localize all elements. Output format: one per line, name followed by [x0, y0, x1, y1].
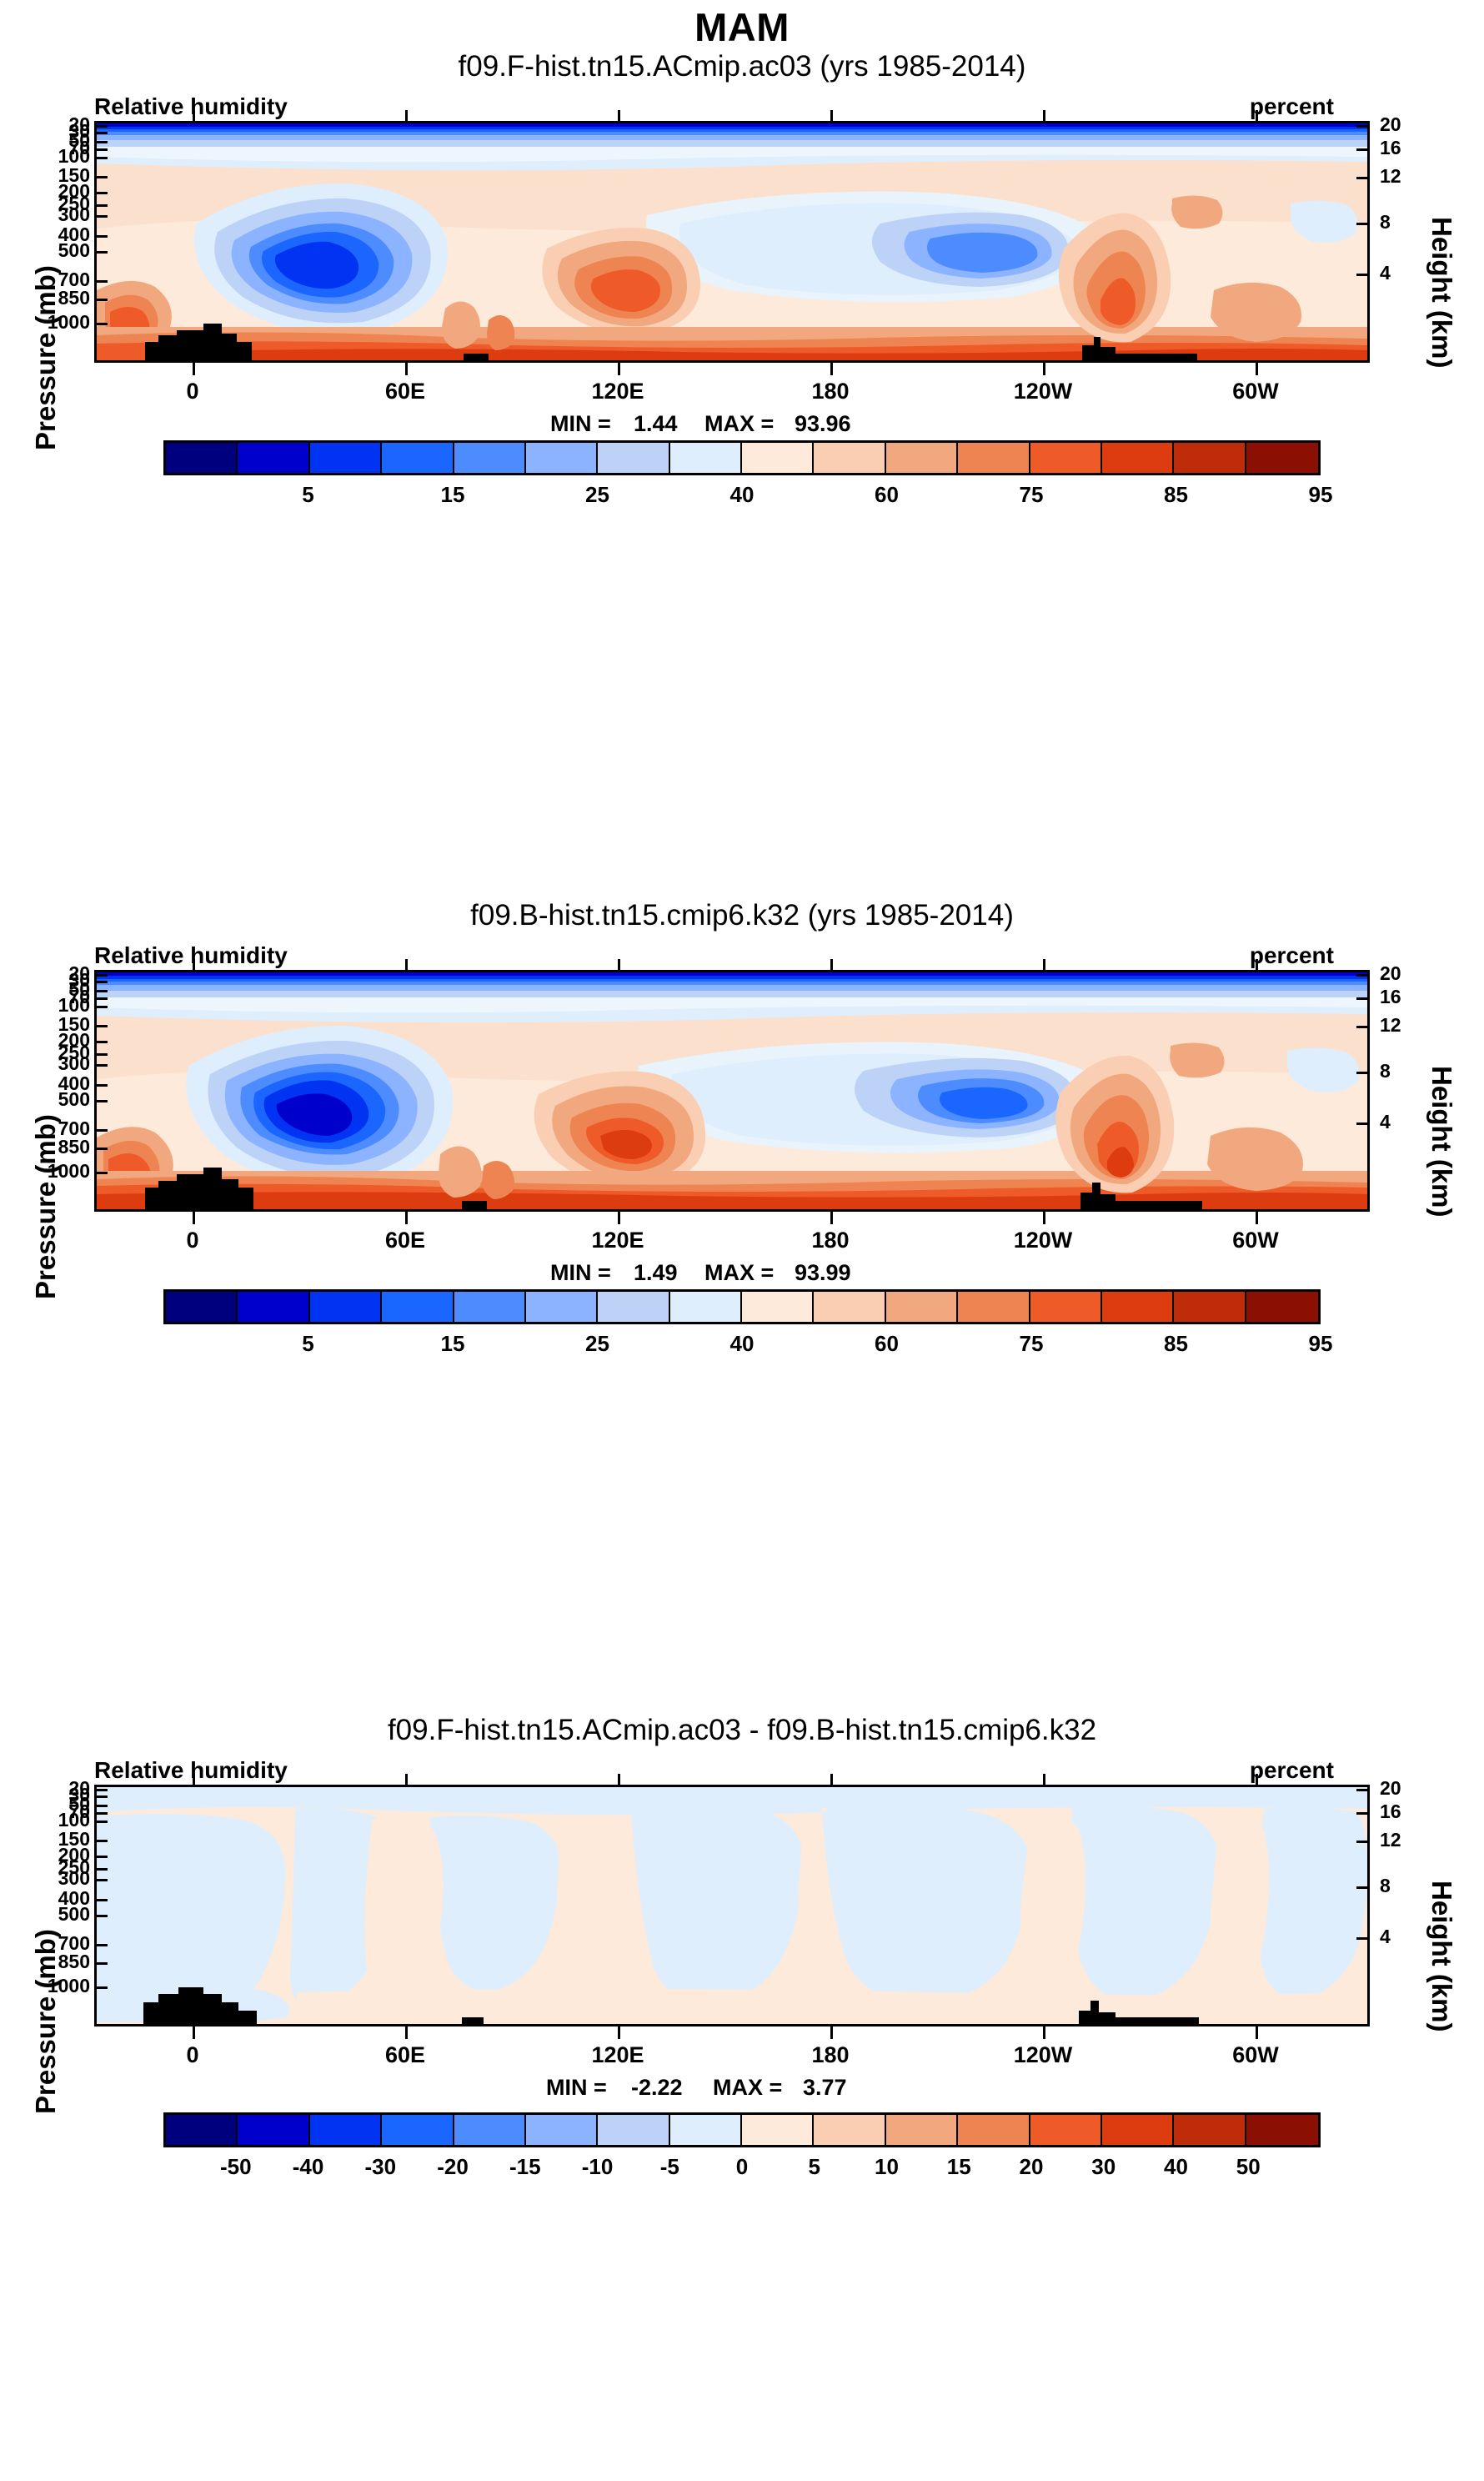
panel-1-xtick-60W: 60W: [1210, 379, 1301, 404]
panel-1-htick-4: 4: [1380, 262, 1391, 284]
colorbar-swatch: [382, 2115, 454, 2145]
colorbar-tick-label: 15: [921, 2154, 996, 2180]
panel-2-xtick-60W: 60W: [1210, 1228, 1301, 1253]
colorbar-tick-label: -5: [632, 2154, 707, 2180]
panel-3-xtick-60W: 60W: [1210, 2042, 1301, 2068]
panel-2-xtick-0: 0: [147, 1228, 238, 1253]
panel-1-plot-area: [94, 121, 1370, 363]
colorbar-swatch: [526, 1292, 598, 1322]
colorbar-tick-label: 5: [777, 2154, 852, 2180]
panel-2-htick-8: 8: [1380, 1060, 1391, 1082]
colorbar-swatch: [814, 443, 885, 473]
colorbar-swatch: [166, 1292, 238, 1322]
colorbar-swatch: [742, 2115, 814, 2145]
colorbar-tick-label: 60: [850, 1331, 925, 1357]
panel-3-htick-8: 8: [1380, 1875, 1391, 1897]
panel-3-colorbar-strip: [163, 2112, 1321, 2147]
panel-1-xtick-120E: 120E: [572, 379, 664, 404]
colorbar-swatch: [1102, 443, 1174, 473]
colorbar-swatch: [238, 2115, 309, 2145]
colorbar-swatch: [886, 443, 958, 473]
panel-2-xtick-180: 180: [785, 1228, 876, 1253]
panel-1-max-value: 93.96: [795, 411, 851, 437]
colorbar-swatch: [166, 2115, 238, 2145]
colorbar-tick-label: 20: [994, 2154, 1069, 2180]
panel-1-title: f09.F-hist.tn15.ACmip.ac03 (yrs 1985-201…: [0, 50, 1484, 83]
panel-1-htick-16: 16: [1380, 137, 1401, 159]
panel-2-htick-20: 20: [1380, 962, 1401, 985]
colorbar-swatch: [958, 1292, 1030, 1322]
colorbar-swatch: [1246, 1292, 1318, 1322]
colorbar-tick-label: 75: [994, 482, 1069, 508]
panel-2-ytick-1000: 1000: [7, 1160, 90, 1183]
colorbar-tick-label: 95: [1283, 1331, 1358, 1357]
colorbar-swatch: [310, 1292, 382, 1322]
panel-1-xtick-120W: 120W: [997, 379, 1089, 404]
panel-3-unit-label: percent: [1250, 1757, 1334, 1784]
colorbar-tick-label: -50: [198, 2154, 273, 2180]
panel-2-xtick-120W: 120W: [997, 1228, 1089, 1253]
panel-2-htick-4: 4: [1380, 1111, 1391, 1133]
colorbar-tick-label: 50: [1211, 2154, 1286, 2180]
panel-2-xtick-60E: 60E: [359, 1228, 451, 1253]
panel-1-colorbar-strip: [163, 440, 1321, 475]
colorbar-swatch: [526, 2115, 598, 2145]
panel-1-variable-label: Relative humidity: [94, 93, 288, 120]
colorbar-swatch: [958, 443, 1030, 473]
panel-1-htick-8: 8: [1380, 211, 1391, 234]
panel-3-max-label: MAX =: [713, 2075, 782, 2101]
colorbar-swatch: [526, 443, 598, 473]
colorbar-tick-label: 5: [271, 1331, 346, 1357]
colorbar-swatch: [814, 2115, 885, 2145]
colorbar-swatch: [1174, 1292, 1246, 1322]
panel-1-ytick-1000: 1000: [7, 311, 90, 334]
colorbar-tick-label: 5: [271, 482, 346, 508]
panel-3-colorbar: -50-40-30-20-15-10-505101520304050: [0, 2112, 1484, 2192]
colorbar-swatch: [670, 2115, 742, 2145]
colorbar-swatch: [1174, 443, 1246, 473]
panel-1-unit-label: percent: [1250, 93, 1334, 120]
panel-3-contour-field: [97, 1787, 1367, 2024]
colorbar-swatch: [238, 443, 309, 473]
colorbar-swatch: [454, 1292, 526, 1322]
colorbar-swatch: [742, 443, 814, 473]
panel-3-title: f09.F-hist.tn15.ACmip.ac03 - f09.B-hist.…: [0, 1714, 1484, 1747]
colorbar-swatch: [454, 443, 526, 473]
colorbar-swatch: [742, 1292, 814, 1322]
colorbar-tick-label: 25: [560, 482, 635, 508]
colorbar-swatch: [958, 2115, 1030, 2145]
panel-1-xtick-60E: 60E: [359, 379, 451, 404]
panel-3-max-value: 3.77: [803, 2075, 847, 2101]
colorbar-tick-label: -20: [415, 2154, 490, 2180]
colorbar-tick-label: 85: [1139, 1331, 1214, 1357]
panel-3-yaxis-right-title: Height (km): [1426, 1881, 1457, 2032]
colorbar-swatch: [454, 2115, 526, 2145]
panel-1-yaxis-right-title: Height (km): [1426, 217, 1457, 369]
panel-3-htick-4: 4: [1380, 1926, 1391, 1948]
panel-3-xtick-120W: 120W: [997, 2042, 1089, 2068]
panel-3-htick-12: 12: [1380, 1829, 1401, 1851]
colorbar-tick-label: 30: [1066, 2154, 1141, 2180]
colorbar-swatch: [1246, 443, 1318, 473]
colorbar-tick-label: 40: [1139, 2154, 1214, 2180]
panel-1-ytick-500: 500: [7, 239, 90, 262]
panel-3-xtick-120E: 120E: [572, 2042, 664, 2068]
colorbar-swatch: [670, 443, 742, 473]
colorbar-swatch: [1102, 2115, 1174, 2145]
panel-2-min-label: MIN =: [550, 1260, 611, 1286]
panel-3-min-label: MIN =: [546, 2075, 607, 2101]
panel-2-max-label: MAX =: [704, 1260, 774, 1286]
panel-2-htick-16: 16: [1380, 986, 1401, 1008]
panel-2-htick-12: 12: [1380, 1014, 1401, 1037]
colorbar-swatch: [1030, 1292, 1102, 1322]
colorbar-tick-label: -40: [271, 2154, 346, 2180]
panel-3-xtick-180: 180: [785, 2042, 876, 2068]
panel-1-htick-12: 12: [1380, 165, 1401, 188]
panel-3-variable-label: Relative humidity: [94, 1757, 288, 1784]
panel-1: f09.F-hist.tn15.ACmip.ac03 (yrs 1985-201…: [0, 50, 1484, 884]
panel-3-xtick-0: 0: [147, 2042, 238, 2068]
colorbar-swatch: [598, 1292, 669, 1322]
panel-2-yaxis-right-title: Height (km): [1426, 1066, 1457, 1218]
panel-1-min-value: 1.44: [634, 411, 678, 437]
colorbar-swatch: [1102, 1292, 1174, 1322]
panel-2-variable-label: Relative humidity: [94, 942, 288, 969]
panel-2-xtick-120E: 120E: [572, 1228, 664, 1253]
panel-1-min-label: MIN =: [550, 411, 611, 437]
panel-3-ytick-300: 300: [7, 1867, 90, 1890]
colorbar-swatch: [382, 443, 454, 473]
colorbar-tick-label: 40: [704, 1331, 780, 1357]
colorbar-tick-label: -30: [343, 2154, 418, 2180]
colorbar-tick-label: 15: [415, 1331, 490, 1357]
colorbar-tick-label: -15: [488, 2154, 563, 2180]
figure-page: MAM f09.F-hist.tn15.ACmip.ac03 (yrs 1985…: [0, 0, 1484, 2479]
panel-2-ytick-850: 850: [7, 1136, 90, 1158]
colorbar-swatch: [310, 2115, 382, 2145]
panel-2-title: f09.B-hist.tn15.cmip6.k32 (yrs 1985-2014…: [0, 899, 1484, 932]
colorbar-tick-label: 95: [1283, 482, 1358, 508]
panel-3-ytick-850: 850: [7, 1951, 90, 1973]
colorbar-swatch: [598, 443, 669, 473]
panel-3-plot-area: [94, 1785, 1370, 2026]
panel-2-ytick-500: 500: [7, 1088, 90, 1111]
colorbar-tick-label: 15: [415, 482, 490, 508]
colorbar-tick-label: 85: [1139, 482, 1214, 508]
colorbar-swatch: [382, 1292, 454, 1322]
colorbar-swatch: [166, 443, 238, 473]
panel-2-unit-label: percent: [1250, 942, 1334, 969]
panel-3-htick-16: 16: [1380, 1800, 1401, 1823]
colorbar-swatch: [886, 2115, 958, 2145]
panel-2-plot-area: [94, 970, 1370, 1212]
panel-2-ytick-300: 300: [7, 1052, 90, 1075]
colorbar-swatch: [1030, 2115, 1102, 2145]
panel-2-min-value: 1.49: [634, 1260, 678, 1286]
panel-1-ytick-300: 300: [7, 203, 90, 226]
panel-1-xtick-0: 0: [147, 379, 238, 404]
panel-1-ytick-850: 850: [7, 287, 90, 309]
colorbar-tick-label: 10: [850, 2154, 925, 2180]
colorbar-swatch: [598, 2115, 669, 2145]
colorbar-swatch: [238, 1292, 309, 1322]
panel-3: f09.F-hist.tn15.ACmip.ac03 - f09.B-hist.…: [0, 1714, 1484, 2481]
panel-2-colorbar-strip: [163, 1289, 1321, 1324]
panel-1-xtick-180: 180: [785, 379, 876, 404]
colorbar-swatch: [814, 1292, 885, 1322]
colorbar-swatch: [1174, 2115, 1246, 2145]
colorbar-swatch: [886, 1292, 958, 1322]
colorbar-tick-label: 75: [994, 1331, 1069, 1357]
colorbar-tick-label: 0: [704, 2154, 780, 2180]
panel-2-colorbar: 515254060758595: [0, 1289, 1484, 1369]
colorbar-tick-label: 25: [560, 1331, 635, 1357]
panel-3-min-value: -2.22: [631, 2075, 683, 2101]
page-title: MAM: [0, 4, 1484, 50]
colorbar-tick-label: 60: [850, 482, 925, 508]
panel-1-max-label: MAX =: [704, 411, 774, 437]
colorbar-tick-label: -10: [560, 2154, 635, 2180]
panel-1-htick-20: 20: [1380, 113, 1401, 136]
panel-1-colorbar: 515254060758595: [0, 440, 1484, 520]
panel-2: f09.B-hist.tn15.cmip6.k32 (yrs 1985-2014…: [0, 899, 1484, 1733]
panel-3-xtick-60E: 60E: [359, 2042, 451, 2068]
panel-1-contour-field: [97, 123, 1367, 360]
panel-2-max-value: 93.99: [795, 1260, 851, 1286]
panel-3-ytick-500: 500: [7, 1903, 90, 1926]
colorbar-swatch: [1030, 443, 1102, 473]
colorbar-swatch: [1246, 2115, 1318, 2145]
colorbar-swatch: [670, 1292, 742, 1322]
panel-3-htick-20: 20: [1380, 1777, 1401, 1800]
colorbar-swatch: [310, 443, 382, 473]
colorbar-tick-label: 40: [704, 482, 780, 508]
panel-3-ytick-1000: 1000: [7, 1975, 90, 1997]
panel-2-contour-field: [97, 972, 1367, 1209]
